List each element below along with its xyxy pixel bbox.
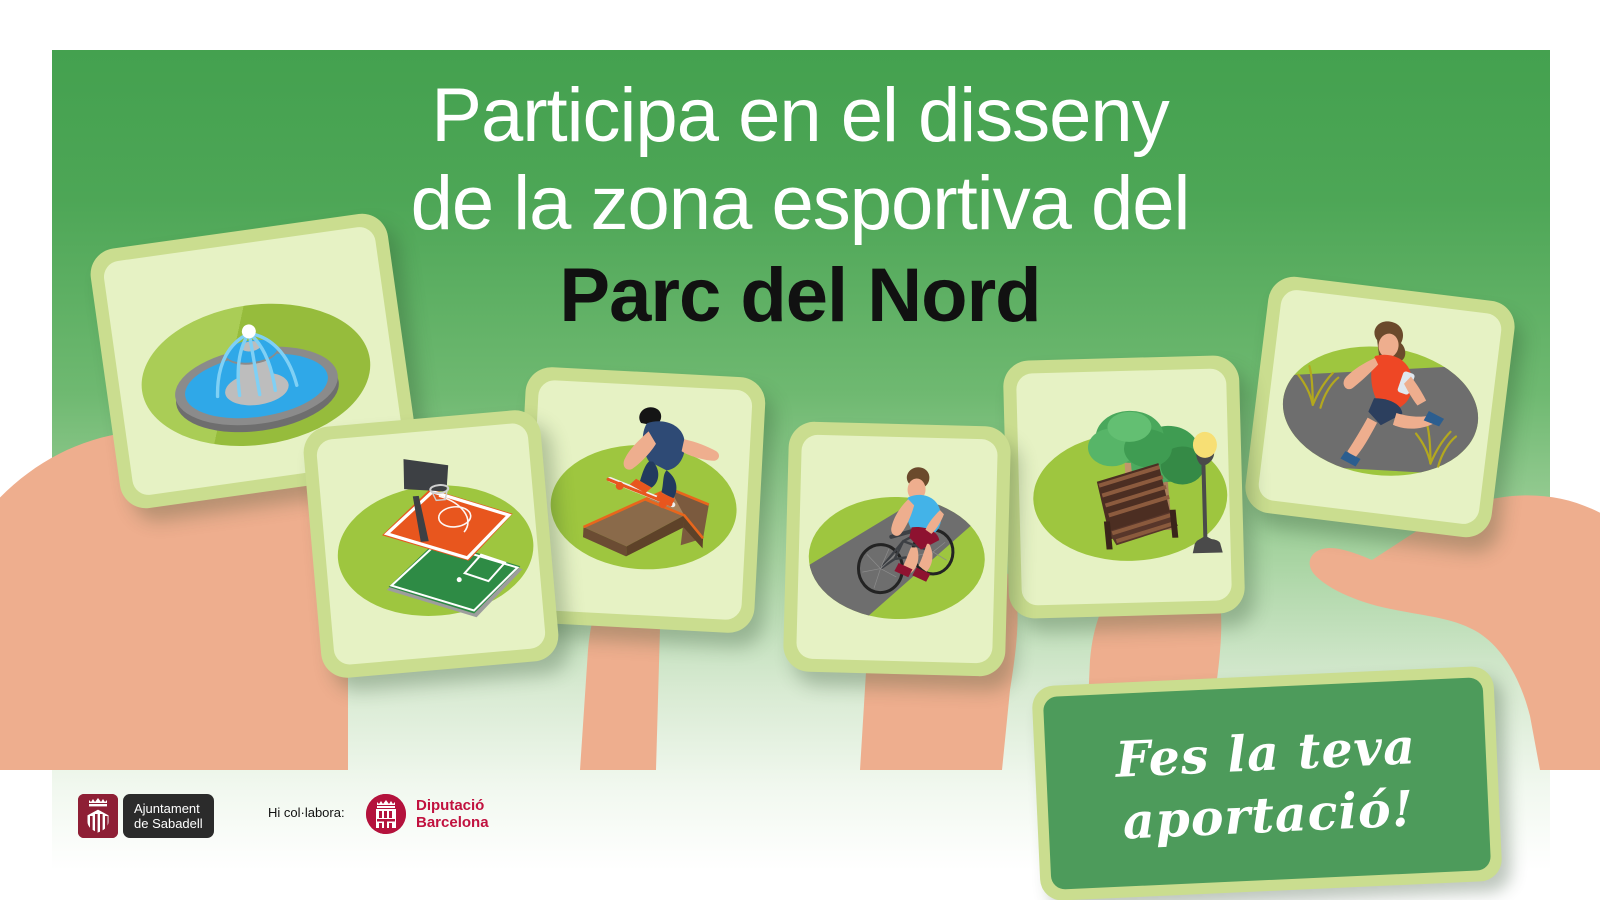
cycling-card-inner: [796, 434, 998, 663]
skateboarder-icon: [527, 380, 753, 621]
sports-court-card[interactable]: [301, 408, 560, 680]
cycling-card[interactable]: [783, 421, 1011, 677]
headline-line-1: Participa en el disseny: [0, 72, 1600, 160]
diputacio-name-plate: Diputació Barcelona: [416, 797, 489, 831]
diputacio-line-2: Barcelona: [416, 814, 489, 831]
park-bench-icon: [1016, 368, 1232, 605]
footer-logos: Ajuntament de Sabadell Hi col·labora:: [0, 780, 1600, 870]
diputacio-line-1: Diputació: [416, 797, 489, 814]
bench-card[interactable]: [1003, 355, 1246, 619]
collaborate-label: Hi col·labora:: [268, 805, 345, 820]
ajuntament-name-plate: Ajuntament de Sabadell: [123, 794, 214, 838]
sabadell-coat-of-arms-icon: [78, 794, 118, 838]
diputacio-seal-icon: [366, 794, 406, 834]
ajuntament-sabadell-logo[interactable]: Ajuntament de Sabadell: [78, 794, 214, 838]
headline-block: Participa en el disseny de la zona espor…: [0, 0, 1600, 344]
sports-court-icon: [316, 422, 547, 666]
diputacio-barcelona-logo[interactable]: Diputació Barcelona: [366, 794, 489, 834]
ajuntament-line-1: Ajuntament: [134, 801, 203, 816]
headline-line-2: de la zona esportiva del: [0, 160, 1600, 248]
sports-court-card-inner: [316, 422, 547, 666]
skate-ramp-card-inner: [527, 380, 753, 621]
cyclist-icon: [796, 434, 998, 663]
headline-highlight: Parc del Nord: [0, 248, 1600, 344]
ajuntament-line-2: de Sabadell: [134, 816, 203, 831]
bench-card-inner: [1016, 368, 1232, 605]
poster-canvas: Participa en el disseny de la zona espor…: [0, 0, 1600, 900]
